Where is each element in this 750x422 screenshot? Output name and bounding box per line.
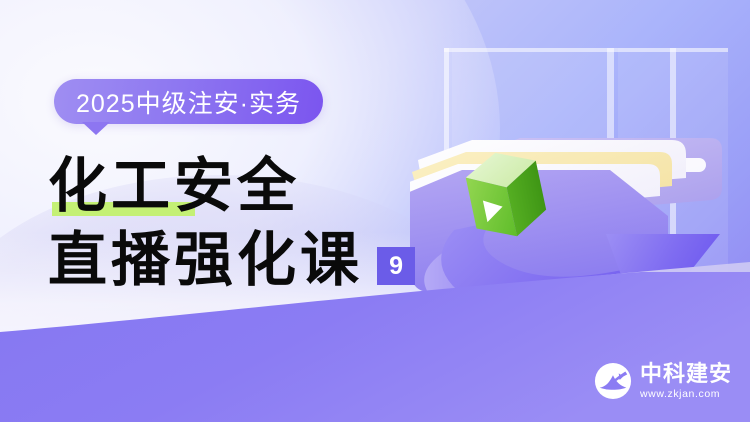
background-panel-divider-2: [607, 48, 614, 348]
background-panel-right: [618, 48, 728, 348]
speech-bubble-tail-icon: [82, 122, 110, 135]
course-title-line2: 直播强化课: [48, 229, 363, 291]
course-promo-banner: 2025中级注安·实务 化工安全 直播强化课 9 中科建安 www.zkjan.…: [0, 0, 750, 422]
background-panel-top-edge: [444, 48, 728, 52]
background-panel-divider-3: [670, 48, 676, 348]
course-title-line1: 化工安全: [48, 155, 300, 217]
background-panel-left: [452, 48, 607, 348]
brand-logo: 中科建安 www.zkjan.com: [594, 362, 732, 400]
episode-number-badge: 9: [377, 247, 415, 285]
brand-url: www.zkjan.com: [640, 389, 720, 400]
mountain-arrow-logo-icon: [594, 362, 632, 400]
title-block: 化工安全 直播强化课 9: [48, 151, 468, 291]
course-category-badge-label: 2025中级注安·实务: [76, 84, 301, 120]
brand-name: 中科建安: [640, 363, 732, 385]
course-category-badge: 2025中级注安·实务: [54, 79, 323, 124]
episode-number-text: 9: [389, 254, 403, 279]
title-line-secondary: 直播强化课 9: [48, 225, 468, 291]
title-line-primary: 化工安全: [48, 151, 468, 217]
brand-logo-text: 中科建安 www.zkjan.com: [640, 363, 732, 400]
